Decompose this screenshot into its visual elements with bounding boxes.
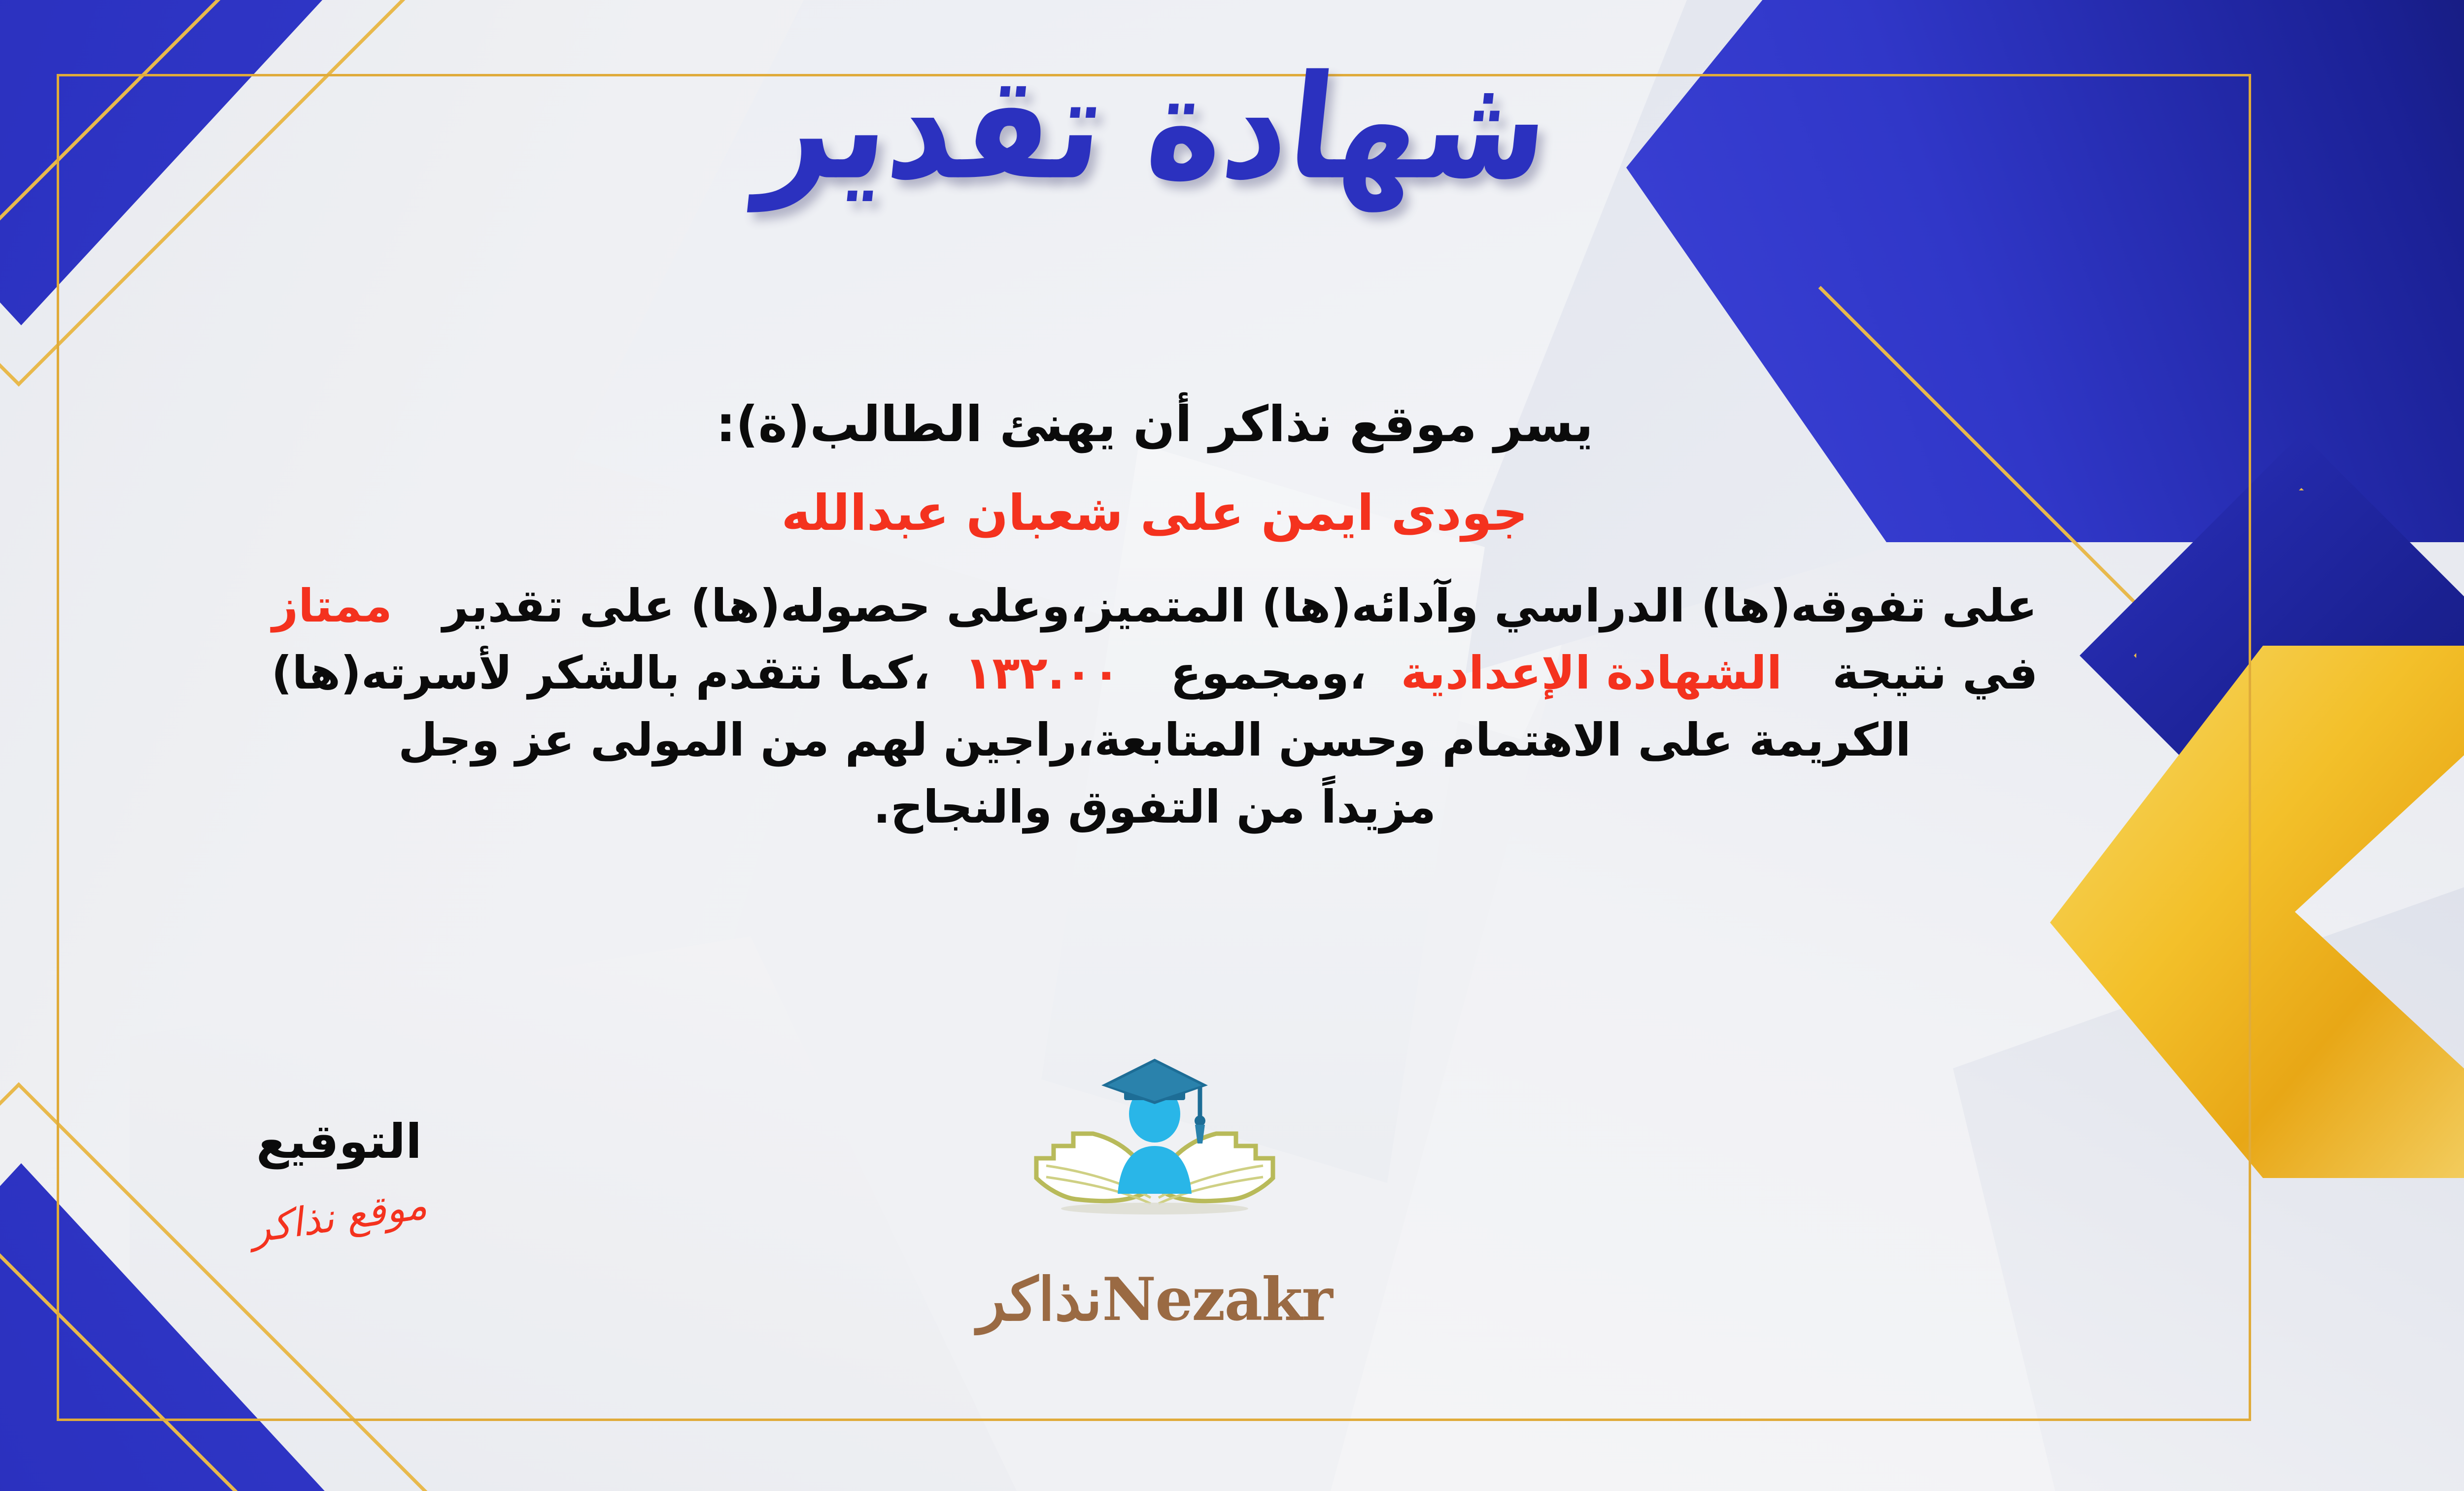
site-logo: Nezakrنذاكر (933, 1055, 1376, 1334)
closing-text: مزيداً من التفوق والنجاح. (873, 781, 1436, 833)
logo-wordmark: Nezakrنذاكر (933, 1265, 1376, 1334)
graduation-book-logo-icon (1017, 1055, 1293, 1262)
achievement-paragraph: على تفوقه(ها) الدراسي وآدائه(ها) المتميز… (88, 573, 2222, 841)
congratulation-line: يسر موقع نذاكر أن يهنئ الطالب(ة): (88, 389, 2222, 459)
exam-name: الشهادة الإعدادية (1401, 647, 1782, 699)
total-score: ١٣٢.٠٠ (964, 647, 1120, 699)
certificate-body: يسر موقع نذاكر أن يهنئ الطالب(ة): جودى ا… (58, 389, 2251, 841)
result-text-1: في نتيجة (1832, 647, 2038, 699)
gratitude-text: الكريمة على الاهتمام وحسن المتابعة،راجين… (398, 714, 1911, 766)
student-name: جودى ايمن على شعبان عبدالله (88, 478, 2222, 548)
result-text-3: ،كما نتقدم بالشكر لأسرته(ها) (272, 647, 930, 699)
signature-block: التوقيع موقع نذاكر (142, 1114, 536, 1240)
achievement-text-1: على تفوقه(ها) الدراسي وآدائه(ها) المتميز… (443, 580, 2037, 632)
grade-value: ممتاز (272, 580, 392, 632)
result-text-2: ،ومجموع (1170, 647, 1367, 699)
certificate-card: شهادة تقدير يسر موقع نذاكر أن يهنئ الطال… (0, 0, 2464, 1491)
certificate-title: شهادة تقدير (51, 56, 2259, 200)
certificate-content: شهادة تقدير يسر موقع نذاكر أن يهنئ الطال… (58, 74, 2251, 1421)
signature-label: التوقيع (142, 1114, 536, 1169)
signature-script: موقع نذاكر (248, 1181, 430, 1251)
